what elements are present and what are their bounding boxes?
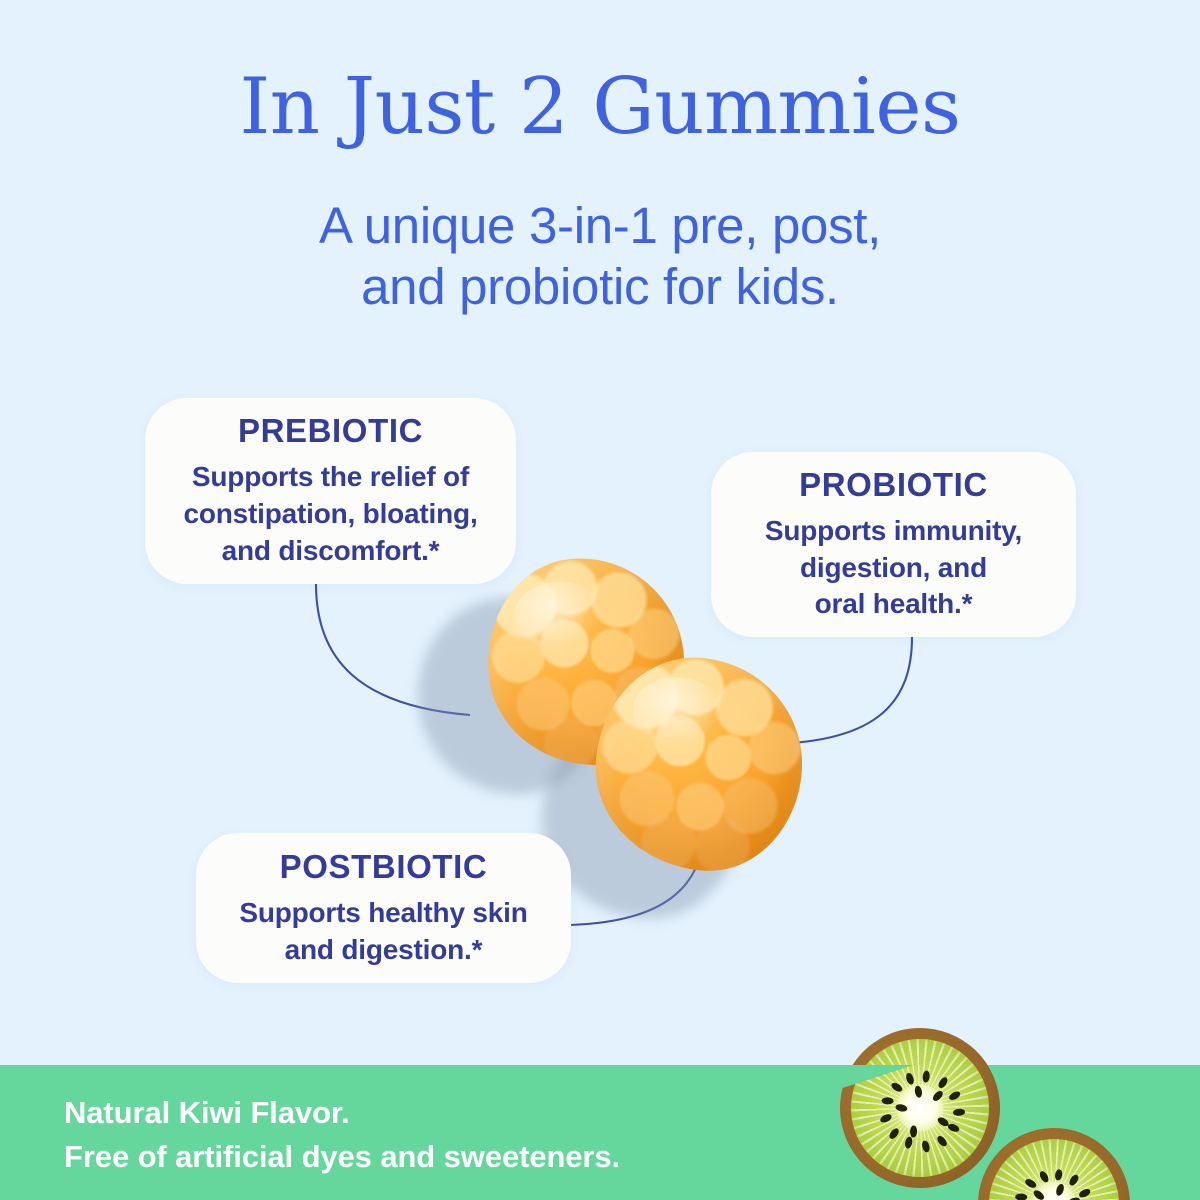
benefit-card-body-line-1: Supports the relief of (183, 459, 477, 496)
benefit-card-body-line-3: and discomfort.* (183, 533, 477, 570)
gummy-icon (589, 651, 809, 877)
benefit-card-title: PROBIOTIC (799, 466, 988, 504)
page-title: In Just 2 Gummies (0, 68, 1200, 146)
benefit-card-postbiotic: POSTBIOTIC Supports healthy skin and dig… (196, 833, 571, 983)
benefit-card-body-line-1: Supports healthy skin (239, 895, 527, 932)
footer-line-2: Free of artificial dyes and sweeteners. (64, 1135, 620, 1179)
footer-banner-text: Natural Kiwi Flavor. Free of artificial … (64, 1091, 620, 1179)
footer-line-1: Natural Kiwi Flavor. (64, 1091, 620, 1135)
benefit-card-body: Supports the relief of constipation, blo… (183, 459, 477, 569)
benefit-card-body-line-2: constipation, bloating, (183, 496, 477, 533)
benefit-card-title: POSTBIOTIC (280, 848, 488, 886)
page-subtitle: A unique 3-in-1 pre, post, and probiotic… (0, 196, 1200, 317)
benefit-card-body-line-1: Supports immunity, (765, 513, 1022, 550)
benefit-card-probiotic: PROBIOTIC Supports immunity, digestion, … (711, 452, 1076, 637)
benefit-card-body-line-2: digestion, and (765, 550, 1022, 587)
benefit-card-body: Supports immunity, digestion, and oral h… (765, 513, 1022, 623)
benefit-card-title: PREBIOTIC (238, 412, 423, 450)
benefit-card-body-line-3: oral health.* (765, 586, 1022, 623)
benefit-card-body-line-2: and digestion.* (239, 932, 527, 969)
page-subtitle-line-1: A unique 3-in-1 pre, post, (0, 196, 1200, 257)
product-infographic: In Just 2 Gummies A unique 3-in-1 pre, p… (0, 0, 1200, 1200)
benefit-card-prebiotic: PREBIOTIC Supports the relief of constip… (145, 398, 516, 584)
page-subtitle-line-2: and probiotic for kids. (0, 257, 1200, 318)
benefit-card-body: Supports healthy skin and digestion.* (239, 895, 527, 968)
